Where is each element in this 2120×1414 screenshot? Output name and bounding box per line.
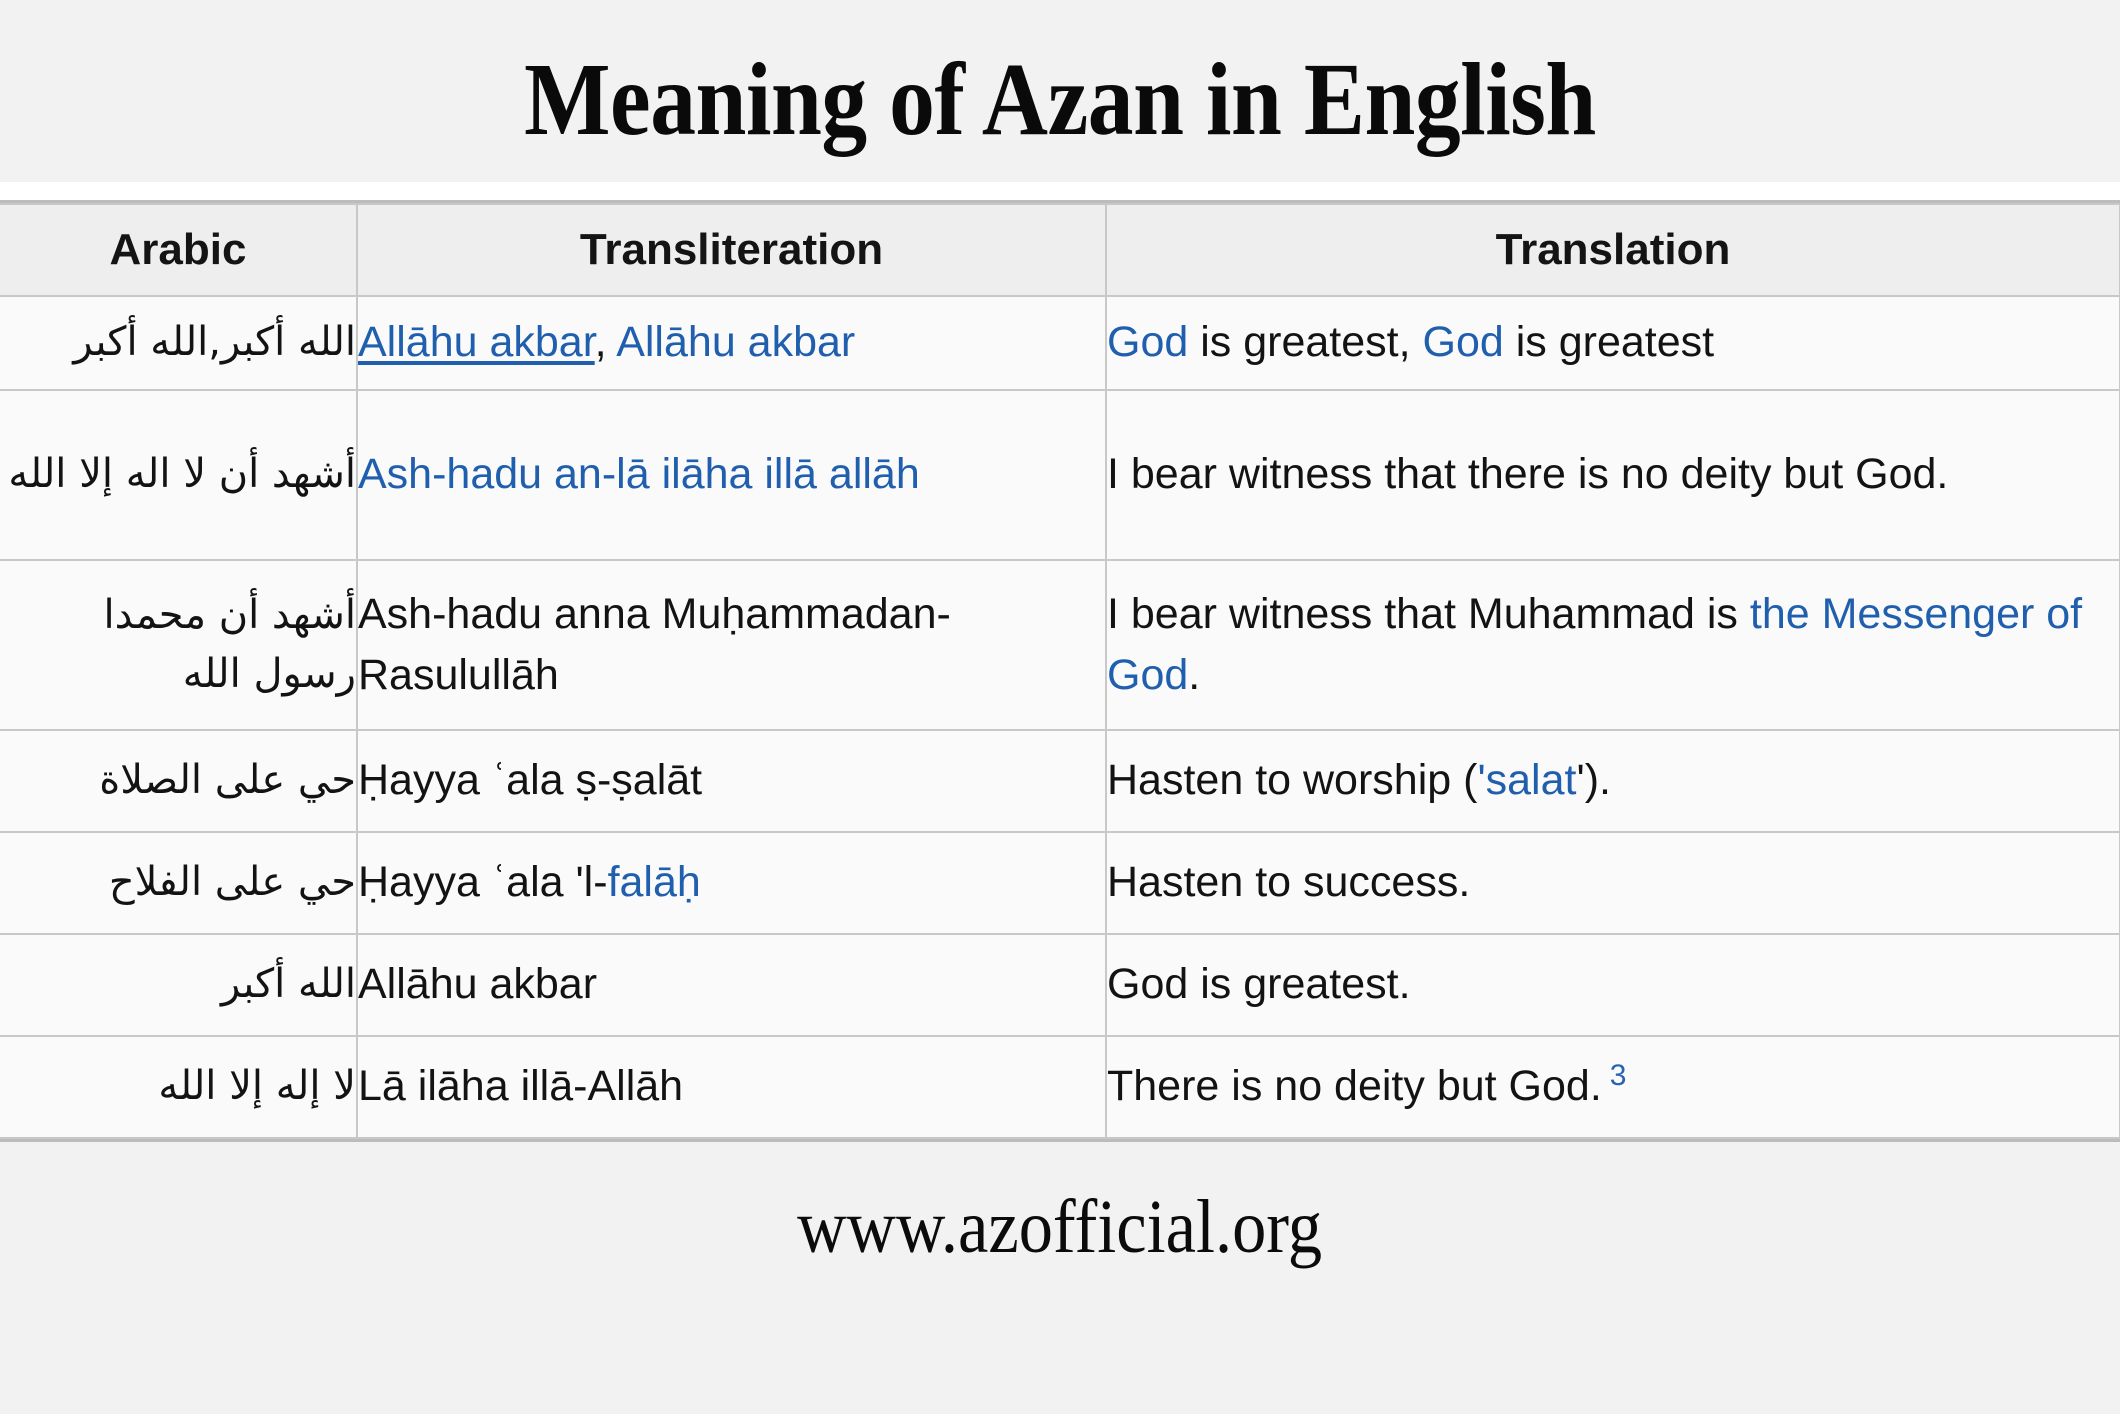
inline-text: is greatest: [1504, 318, 1714, 366]
cell-arabic: لا إله إلا الله: [0, 1036, 357, 1138]
inline-text: There is no deity but God.: [1107, 1062, 1602, 1110]
table-row: لا إله إلا الله Lā ilāha illā-Allāh Ther…: [0, 1036, 2120, 1138]
table-row: حي على الفلاح Ḥayya ʿala 'l-falāḥ Hasten…: [0, 832, 2120, 934]
inline-text: ').: [1576, 756, 1610, 804]
inline-text: Ḥayya ʿala ṣ-ṣalāt: [358, 756, 702, 804]
cell-transliteration: Ash-hadu anna Muḥammadan-Rasulullāh: [357, 560, 1106, 730]
inline-link[interactable]: Allāhu akbar: [616, 318, 855, 366]
inline-text: Hasten to worship (: [1107, 756, 1477, 804]
cell-transliteration: Lā ilāha illā-Allāh: [357, 1036, 1106, 1138]
table-row: أشهد أن محمدا رسول الله Ash-hadu anna Mu…: [0, 560, 2120, 730]
cell-arabic: حي على الفلاح: [0, 832, 357, 934]
inline-link[interactable]: God: [1423, 318, 1504, 366]
table-header: Arabic Transliteration Translation: [0, 204, 2120, 296]
cell-transliteration: Ḥayya ʿala ṣ-ṣalāt: [357, 730, 1106, 832]
inline-link[interactable]: God: [1107, 318, 1188, 366]
azan-table: Arabic Transliteration Translation الله …: [0, 203, 2120, 1139]
footnote-marker[interactable]: 3: [1610, 1059, 1627, 1092]
cell-transliteration[interactable]: Allāhu akbar, Allāhu akbar: [357, 296, 1106, 390]
inline-link[interactable]: Allāhu akbar: [358, 318, 595, 366]
inline-text: .: [1188, 651, 1200, 699]
inline-link[interactable]: Ash-hadu an-lā ilāha illā allāh: [358, 450, 920, 498]
title-underlay-strip: [0, 182, 2120, 200]
site-url: www.azofficial.org: [798, 1184, 1323, 1271]
cell-transliteration: Allāhu akbar: [357, 934, 1106, 1036]
column-header-transliteration: Transliteration: [357, 204, 1106, 296]
inline-text: Hasten to success.: [1107, 858, 1470, 906]
table-row: حي على الصلاة Ḥayya ʿala ṣ-ṣalāt Hasten …: [0, 730, 2120, 832]
table-row: أشهد أن لا اله إلا الله Ash-hadu an-lā i…: [0, 390, 2120, 560]
cell-translation[interactable]: There is no deity but God.3: [1106, 1036, 2120, 1138]
inline-text: I bear witness that there is no deity bu…: [1107, 450, 1948, 498]
cell-arabic: أشهد أن محمدا رسول الله: [0, 560, 357, 730]
inline-text: is greatest,: [1188, 318, 1422, 366]
inline-link[interactable]: falāḥ: [608, 858, 701, 906]
cell-arabic: الله أكبر: [0, 934, 357, 1036]
inline-text: Allāhu akbar: [358, 960, 597, 1008]
inline-text: God is greatest.: [1107, 960, 1411, 1008]
inline-text: Ash-hadu anna Muḥammadan-Rasulullāh: [358, 590, 951, 699]
title-band: Meaning of Azan in English: [0, 0, 2120, 200]
page-title: Meaning of Azan in English: [524, 48, 1596, 152]
cell-translation[interactable]: God is greatest, God is greatest: [1106, 296, 2120, 390]
azan-table-container: Arabic Transliteration Translation الله …: [0, 200, 2120, 1142]
cell-arabic: أشهد أن لا اله إلا الله: [0, 390, 357, 560]
inline-text: ,: [595, 318, 617, 366]
cell-translation[interactable]: Hasten to worship ('salat').: [1106, 730, 2120, 832]
cell-translation: Hasten to success.: [1106, 832, 2120, 934]
cell-arabic: حي على الصلاة: [0, 730, 357, 832]
table-row: الله أكبر,الله أكبر Allāhu akbar, Allāhu…: [0, 296, 2120, 390]
column-header-translation: Translation: [1106, 204, 2120, 296]
inline-text: Lā ilāha illā-Allāh: [358, 1062, 683, 1110]
cell-transliteration[interactable]: Ḥayya ʿala 'l-falāḥ: [357, 832, 1106, 934]
table-header-row: Arabic Transliteration Translation: [0, 204, 2120, 296]
cell-translation[interactable]: I bear witness that Muhammad is the Mess…: [1106, 560, 2120, 730]
infographic-page: Meaning of Azan in English Arabic Transl…: [0, 0, 2120, 1414]
inline-text: Ḥayya ʿala 'l-: [358, 858, 608, 906]
inline-link[interactable]: 'salat: [1477, 756, 1576, 804]
footer: www.azofficial.org: [0, 1142, 2120, 1414]
table-row: الله أكبر Allāhu akbar God is greatest.: [0, 934, 2120, 1036]
cell-arabic: الله أكبر,الله أكبر: [0, 296, 357, 390]
table-body: الله أكبر,الله أكبر Allāhu akbar, Allāhu…: [0, 296, 2120, 1138]
cell-translation: God is greatest.: [1106, 934, 2120, 1036]
column-header-arabic: Arabic: [0, 204, 357, 296]
cell-transliteration[interactable]: Ash-hadu an-lā ilāha illā allāh: [357, 390, 1106, 560]
inline-text: I bear witness that Muhammad is: [1107, 590, 1750, 638]
cell-translation: I bear witness that there is no deity bu…: [1106, 390, 2120, 560]
